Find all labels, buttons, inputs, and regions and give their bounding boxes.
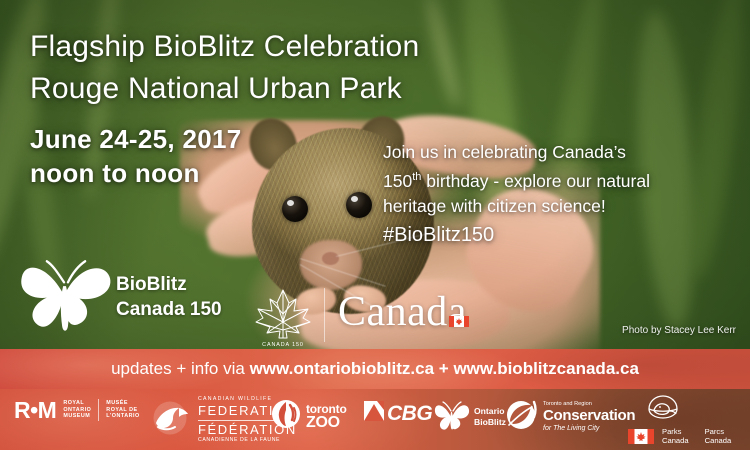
cwf-fr-small: CANADIENNE DE LA FAUNE <box>198 437 297 444</box>
cbg-text: CBG <box>387 403 432 425</box>
zoo-animal-icon <box>271 399 301 434</box>
description-line-2-rest: birthday - explore our natural <box>421 171 650 191</box>
butterfly-icon <box>18 244 114 336</box>
toronto-zoo-line-2: ZOO <box>306 415 347 431</box>
photo-credit: Photo by Stacey Lee Kerr <box>622 325 736 336</box>
canada-wordmark-text: Canada <box>338 289 467 335</box>
butterfly-icon <box>434 398 470 435</box>
toronto-zoo-line-1: toronto <box>306 403 347 415</box>
anniversary-number: 150 <box>383 171 412 191</box>
rom-en-line-2: ONTARIO <box>63 407 91 414</box>
bioblitz-canada-150-logo: BioBlitz Canada 150 <box>18 244 258 339</box>
parks-canada-en-line-2: Canada <box>662 436 689 445</box>
rom-fr-line-1: MUSÉE <box>106 400 139 407</box>
ontario-bioblitz-line-2: BioBlitz <box>474 417 506 428</box>
description-line-1: Join us in celebrating Canada’s <box>383 140 723 165</box>
event-description: Join us in celebrating Canada’s 150th bi… <box>383 140 723 219</box>
partner-logo-rom[interactable]: R•M ROYAL ONTARIO MUSEUM MUSÉE ROYAL DE … <box>14 398 140 422</box>
rom-divider <box>98 399 99 421</box>
trca-line-3: for The Living City <box>543 424 635 433</box>
canada-wordmark: Canada <box>338 288 467 336</box>
url-bar-prefix: updates + info via <box>111 359 249 378</box>
partner-logo-ontario-bioblitz[interactable]: Ontario BioBlitz <box>434 398 506 435</box>
logo-divider <box>324 288 325 342</box>
parks-canada-en-line-1: Parks <box>662 427 689 436</box>
canada-flag-icon <box>449 290 469 301</box>
rom-fr-line-3: L’ONTARIO <box>106 413 139 420</box>
partner-logo-toronto-zoo[interactable]: toronto ZOO <box>271 399 347 434</box>
description-line-2: 150th birthday - explore our natural <box>383 165 723 194</box>
parks-canada-fr-line-1: Parcs <box>705 427 732 436</box>
description-line-3: heritage with citizen science! <box>383 194 723 219</box>
bioblitz-logo-line-2: Canada 150 <box>116 297 222 322</box>
partner-logo-cbg[interactable]: CBG <box>364 401 432 426</box>
leaf-circle-icon <box>504 398 538 435</box>
trca-line-2: Conservation <box>543 408 635 424</box>
title-line-2: Rouge National Urban Park <box>30 68 550 110</box>
url-separator: + <box>434 359 453 378</box>
maple-leaf-outline-icon <box>256 290 310 338</box>
parks-canada-text-row: Parks Canada Parcs Canada <box>628 427 740 445</box>
ontario-bioblitz-url[interactable]: www.ontariobioblitz.ca <box>250 359 435 378</box>
parks-canada-english: Parks Canada <box>662 427 689 445</box>
page-title: Flagship BioBlitz Celebration Rouge Nati… <box>30 26 550 110</box>
cbg-square-icon <box>364 401 384 426</box>
trca-text: Toronto and Region Conservation for The … <box>543 401 635 433</box>
event-date: June 24-25, 2017 noon to noon <box>30 122 360 190</box>
url-bar-text: updates + info via www.ontariobioblitz.c… <box>0 358 750 380</box>
anniversary-ordinal: th <box>412 171 421 183</box>
ontario-bioblitz-text: Ontario BioBlitz <box>470 406 506 427</box>
goose-icon <box>148 401 192 440</box>
partner-logo-trca[interactable]: Toronto and Region Conservation for The … <box>504 398 635 435</box>
date-line-2: noon to noon <box>30 156 360 190</box>
canada-flag-icon <box>628 429 654 444</box>
ontario-bioblitz-line-1: Ontario <box>474 406 506 417</box>
rom-en-line-1: ROYAL <box>63 400 91 407</box>
bioblitz-logo-text: BioBlitz Canada 150 <box>116 272 222 322</box>
date-line-1: June 24-25, 2017 <box>30 122 360 156</box>
canada-150-caption: CANADA 150 <box>262 342 304 348</box>
bioblitz-canada-url[interactable]: www.bioblitzcanada.ca <box>453 359 638 378</box>
parks-canada-french: Parcs Canada <box>705 427 732 445</box>
hashtag: #BioBlitz150 <box>383 224 494 247</box>
canada-150-logo: CANADA 150 <box>250 286 316 348</box>
rom-en-line-3: MUSEUM <box>63 413 91 420</box>
url-bar: updates + info via www.ontariobioblitz.c… <box>0 349 750 389</box>
rom-mark: R•M <box>14 398 56 422</box>
rom-french-name: MUSÉE ROYAL DE L’ONTARIO <box>106 400 139 420</box>
title-line-1: Flagship BioBlitz Celebration <box>30 26 550 68</box>
bioblitz-promo-banner: Flagship BioBlitz Celebration Rouge Nati… <box>0 0 750 450</box>
rom-fr-line-2: ROYAL DE <box>106 407 139 414</box>
bioblitz-logo-line-1: BioBlitz <box>116 272 222 297</box>
beaver-crest-icon <box>646 394 740 425</box>
parks-canada-fr-line-2: Canada <box>705 436 732 445</box>
toronto-zoo-text: toronto ZOO <box>306 403 347 431</box>
rom-english-name: ROYAL ONTARIO MUSEUM <box>63 400 91 420</box>
partner-logo-parks-canada[interactable]: Parks Canada Parcs Canada <box>628 394 740 445</box>
